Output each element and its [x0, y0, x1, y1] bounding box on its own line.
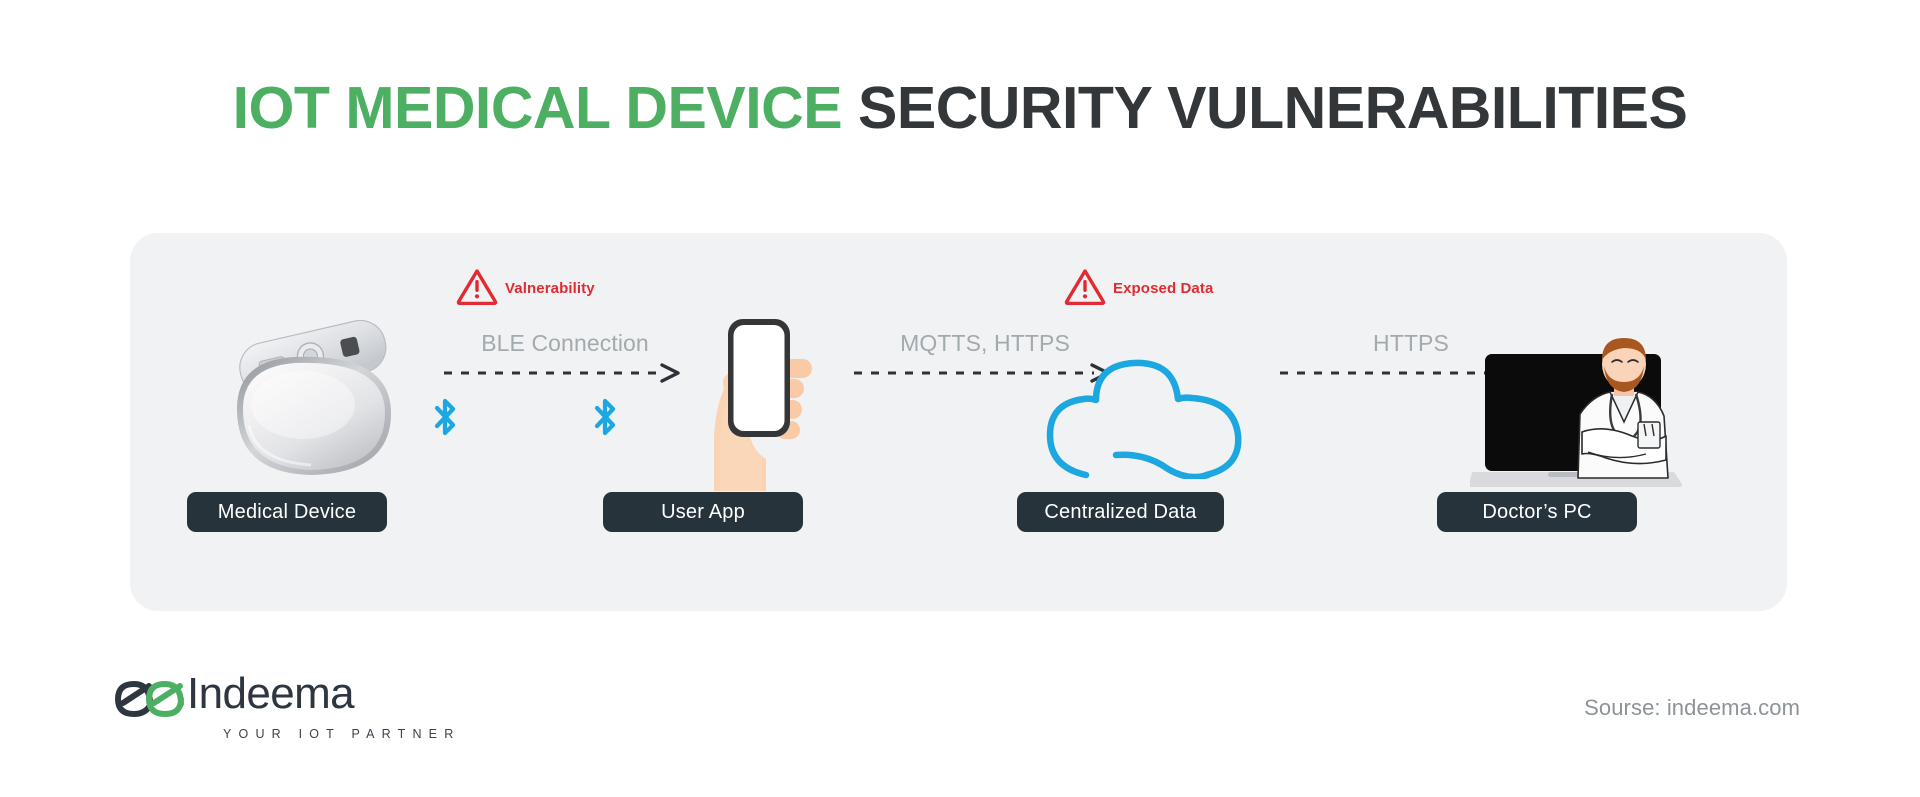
page-title: IOT MEDICAL DEVICE SECURITY VULNERABILIT… — [0, 74, 1920, 142]
warning-vulnerability-label: Valnerability — [505, 280, 595, 297]
node-medical-device — [215, 313, 410, 493]
node-centralized-data — [1042, 355, 1252, 484]
diagram-panel: Valnerability Exposed Data — [130, 233, 1787, 611]
cloud-outline-icon — [1042, 466, 1252, 483]
dashed-arrow-icon — [440, 363, 690, 388]
node-label-user-app[interactable]: User App — [603, 492, 803, 532]
warning-triangle-icon — [456, 267, 498, 310]
warning-triangle-icon — [1064, 267, 1106, 310]
indeema-logo[interactable]: Indeema YOUR IOT PARTNER — [113, 672, 187, 727]
warning-exposed-data-label: Exposed Data — [1113, 280, 1213, 297]
indeema-logo-tagline: YOUR IOT PARTNER — [223, 727, 460, 741]
node-user-app — [708, 311, 838, 496]
source-attribution: Sourse: indeema.com — [1584, 695, 1800, 721]
page-title-dark: SECURITY VULNERABILITIES — [858, 75, 1687, 141]
pacemaker-image — [215, 475, 410, 492]
bluetooth-icon — [428, 395, 462, 448]
connection-mqtts-https-label: MQTTS, HTTPS — [850, 330, 1120, 357]
warning-vulnerability: Valnerability — [456, 267, 595, 310]
connection-ble-label: BLE Connection — [440, 330, 690, 357]
infographic-page: IOT MEDICAL DEVICE SECURITY VULNERABILIT… — [0, 0, 1920, 797]
bluetooth-icon — [588, 395, 622, 448]
node-label-doctors-pc[interactable]: Doctor’s PC — [1437, 492, 1637, 532]
warning-exposed-data: Exposed Data — [1064, 267, 1213, 310]
node-label-centralized-data[interactable]: Centralized Data — [1017, 492, 1224, 532]
node-label-medical-device[interactable]: Medical Device — [187, 492, 387, 532]
connection-ble: BLE Connection — [440, 330, 690, 388]
node-doctors-pc — [1470, 336, 1688, 496]
indeema-logo-mark-icon — [113, 709, 187, 726]
indeema-logo-wordmark: Indeema — [187, 672, 354, 716]
page-title-accent: IOT MEDICAL DEVICE — [233, 75, 842, 141]
